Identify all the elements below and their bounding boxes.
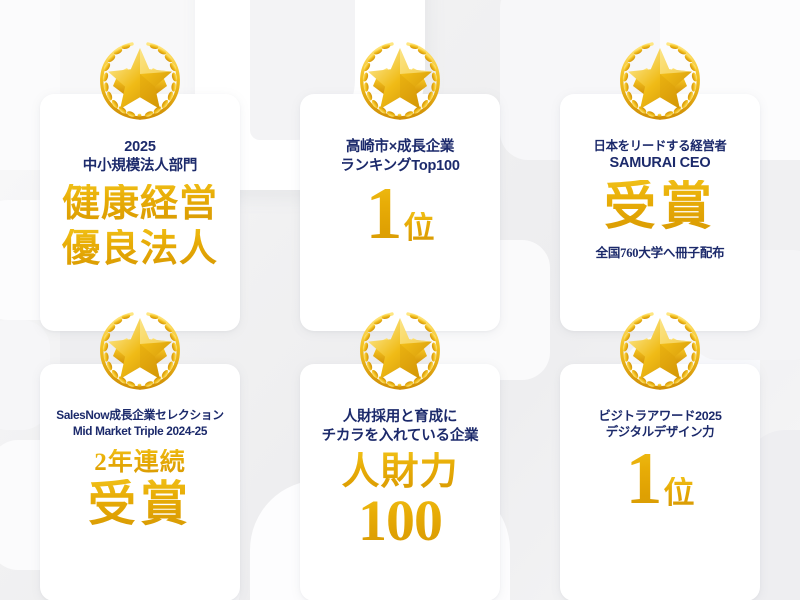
card-slot-6: ビジトラアワード2025 デジタルデザイン力 1 位 (530, 302, 790, 572)
card-headline-line-2: SAMURAI CEO (610, 154, 711, 173)
card-main-line-1: 健康経営 (62, 184, 218, 225)
rank-unit: 位 (664, 477, 695, 508)
card-slot-2: 高崎市×成長企業 ランキングTop100 1 位 (270, 32, 530, 302)
card-main-line-2: 優良法人 (62, 229, 218, 270)
card-headline-line-1: SalesNow成長企業セレクション (56, 408, 223, 424)
card-headline-line-2: Mid Market Triple 2024-25 (73, 424, 207, 440)
rank-display: 1 位 (366, 178, 435, 251)
award-card-jinzairyoku-100[interactable]: 人財採用と育成に チカラを入れている企業 人財力 100 (300, 364, 500, 600)
card-main-line-1: 受賞 (88, 479, 192, 531)
card-slot-3: 日本をリードする経営者 SAMURAI CEO 受賞 全国760大学へ冊子配布 (530, 32, 790, 302)
rank-unit: 位 (404, 212, 435, 243)
rank-number: 1 (366, 178, 402, 251)
award-card-health-management[interactable]: 2025 中小規模法人部門 健康経営 優良法人 (40, 94, 240, 331)
award-card-takasaki-top100[interactable]: 高崎市×成長企業 ランキングTop100 1 位 (300, 94, 500, 331)
award-card-grid: 2025 中小規模法人部門 健康経営 優良法人 (0, 0, 800, 600)
card-headline-line-1: 2025 (124, 138, 155, 157)
award-card-samurai-ceo[interactable]: 日本をリードする経営者 SAMURAI CEO 受賞 全国760大学へ冊子配布 (560, 94, 760, 331)
card-mid-line: 2年連続 (94, 449, 186, 477)
card-footnote: 全国760大学へ冊子配布 (596, 242, 725, 261)
award-card-salesnow-mid-market-triple[interactable]: SalesNow成長企業セレクション Mid Market Triple 202… (40, 364, 240, 600)
laurel-wreath-star-icon (352, 36, 448, 124)
rank-number: 1 (626, 443, 662, 516)
card-headline-line-1: 人財採用と育成に (343, 408, 457, 427)
award-card-visitora-award-2025[interactable]: ビジトラアワード2025 デジタルデザイン力 1 位 (560, 364, 760, 600)
card-slot-5: 人財採用と育成に チカラを入れている企業 人財力 100 (270, 302, 530, 572)
laurel-wreath-star-icon (92, 36, 188, 124)
card-headline-line-2: チカラを入れている企業 (322, 427, 479, 446)
laurel-wreath-star-icon (92, 306, 188, 394)
laurel-wreath-star-icon (612, 306, 708, 394)
award-badges-page: 2025 中小規模法人部門 健康経営 優良法人 (0, 0, 800, 600)
card-headline-line-1: 高崎市×成長企業 (346, 138, 454, 157)
card-slot-4: SalesNow成長企業セレクション Mid Market Triple 202… (10, 302, 270, 572)
rank-display: 1 位 (626, 443, 695, 516)
card-headline-line-1: ビジトラアワード2025 (598, 408, 721, 424)
card-headline-line-2: 中小規模法人部門 (83, 157, 197, 176)
laurel-wreath-star-icon (352, 306, 448, 394)
card-main-line-1: 受賞 (604, 180, 716, 236)
card-big-number: 100 (358, 492, 442, 550)
laurel-wreath-star-icon (612, 36, 708, 124)
card-headline-line-1: 日本をリードする経営者 (594, 138, 727, 154)
card-slot-1: 2025 中小規模法人部門 健康経営 優良法人 (10, 32, 270, 302)
